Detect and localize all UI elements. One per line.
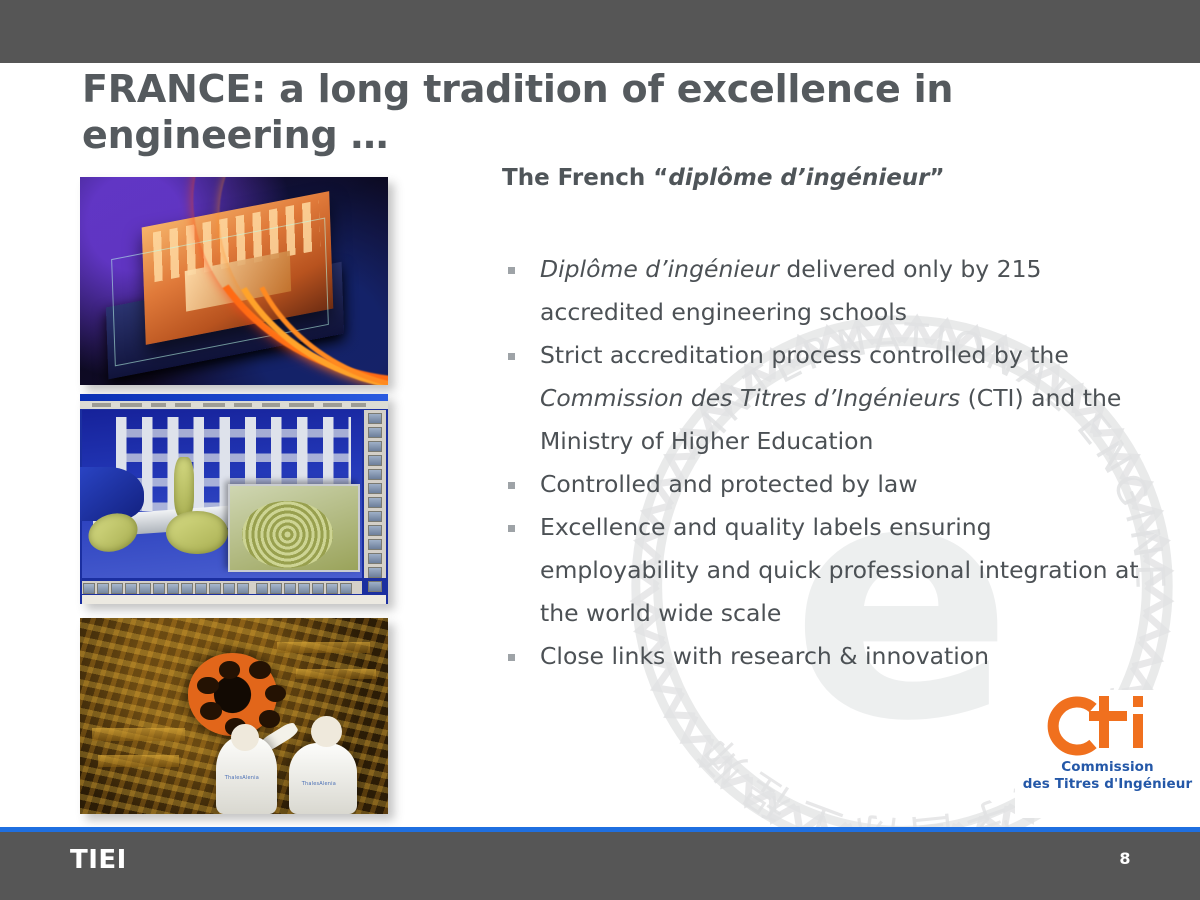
- satellite-assembly-photo: ThalesAlenia ThalesAlenia: [80, 618, 388, 814]
- footer-label: TIEI: [70, 845, 127, 875]
- cti-logo-line2: des Titres d'Ingénieur: [1015, 776, 1200, 792]
- subheading-prefix: The French “: [502, 165, 668, 191]
- list-item: Strict accreditation process controlled …: [502, 334, 1150, 463]
- bullet-list: Diplôme d’ingénieur delivered only by 21…: [502, 248, 1150, 678]
- subheading-italic: diplôme d’ingénieur: [668, 165, 929, 191]
- fiber-optic-chip-photo: [80, 177, 388, 385]
- list-item: Close links with research & innovation: [502, 635, 1150, 678]
- list-item: Excellence and quality labels ensuring e…: [502, 506, 1150, 635]
- footer-bar: [0, 832, 1200, 900]
- page-number: 8: [1110, 849, 1140, 868]
- subheading: The French “diplôme d’ingénieur”: [502, 163, 1162, 193]
- slide-canvas: INTERNATIONAL ENGINEERING 天津大学国际工程师 e FR…: [0, 0, 1200, 900]
- cti-logo: Commission des Titres d'Ingénieur: [1015, 690, 1200, 818]
- cti-wordmark-icon: [1015, 694, 1200, 756]
- slide-title: FRANCE: a long tradition of excellence i…: [82, 66, 1022, 158]
- cti-logo-line1: Commission: [1015, 759, 1200, 775]
- bullet-italic-lead: Diplôme d’ingénieur: [540, 255, 779, 283]
- subheading-suffix: ”: [930, 165, 945, 191]
- list-item: Diplôme d’ingénieur delivered only by 21…: [502, 248, 1150, 334]
- bullet-italic: Commission des Titres d’Ingénieurs: [540, 384, 960, 412]
- bullet-text-part1: Strict accreditation process controlled …: [540, 341, 1069, 369]
- list-item: Controlled and protected by law: [502, 463, 1150, 506]
- top-banner-bar: [0, 0, 1200, 63]
- catia-cad-screenshot: [80, 394, 388, 604]
